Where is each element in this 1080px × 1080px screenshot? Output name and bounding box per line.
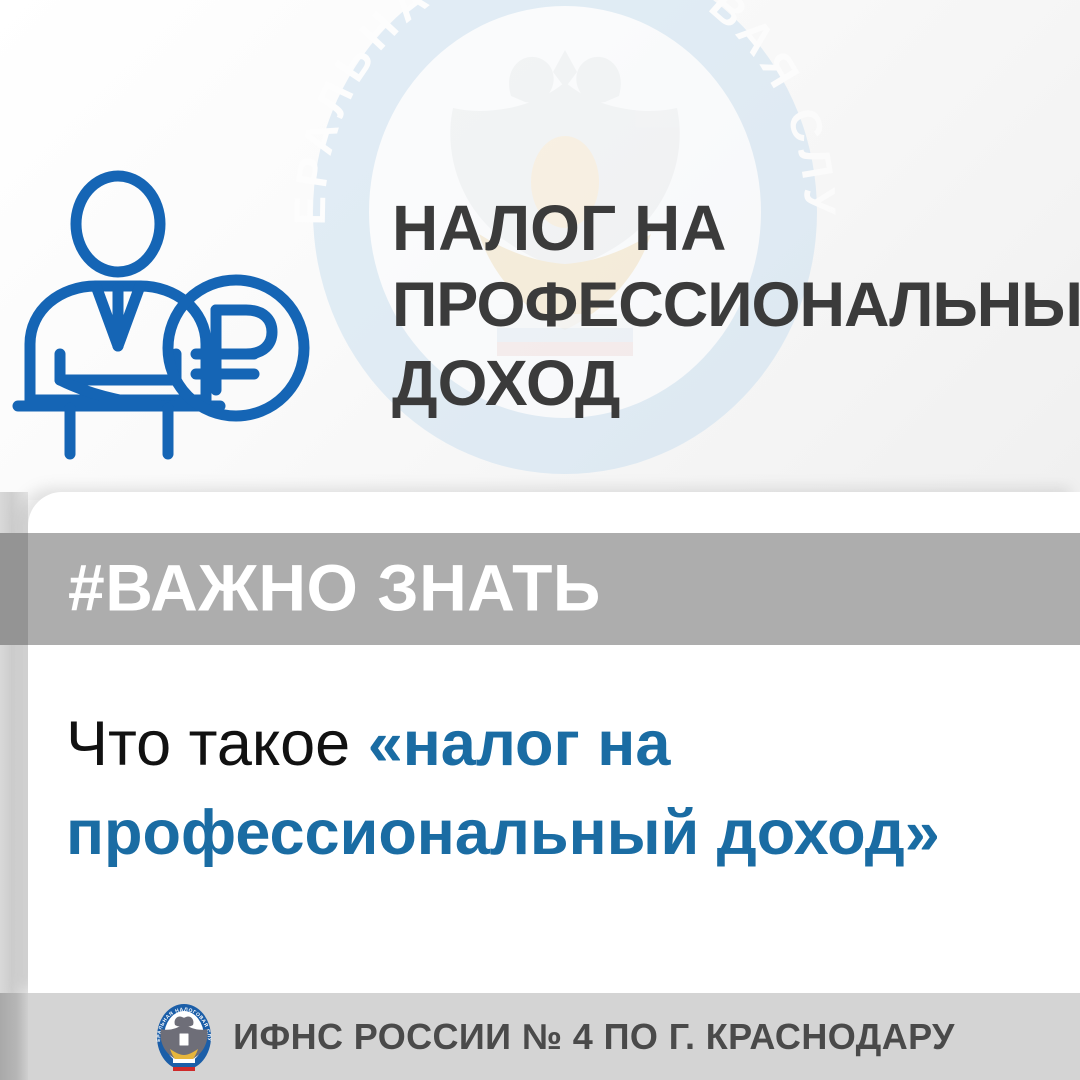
body-lead-text: Что такое — [66, 709, 368, 779]
footer-label: ИФНС РОССИИ № 4 ПО Г. КРАСНОДАРУ — [233, 1016, 955, 1058]
hero-title-line-3: ДОХОД — [392, 351, 1080, 415]
person-with-ruble-coin-icon — [8, 168, 318, 468]
hero-title: НАЛОГ НА ПРОФЕССИОНАЛЬНЫЙ ДОХОД — [392, 196, 1080, 429]
hashtag-label: #ВАЖНО ЗНАТЬ — [68, 555, 601, 621]
poster-root: ФЕДЕРАЛЬНАЯ НАЛОГОВАЯ СЛУЖБА — [0, 0, 1080, 1080]
hero-title-line-2: ПРОФЕССИОНАЛЬНЫЙ — [392, 274, 1080, 337]
hero-banner: ФЕДЕРАЛЬНАЯ НАЛОГОВАЯ СЛУЖБА — [0, 0, 1080, 500]
footer-bar: ФЕДЕРАЛЬНАЯ НАЛОГОВАЯ СЛУЖБА ИФНС РОССИИ… — [28, 993, 1080, 1080]
hashtag-band: #ВАЖНО ЗНАТЬ — [28, 533, 1080, 645]
band-left-shadow-gutter — [0, 533, 28, 645]
hero-title-line-1: НАЛОГ НА — [392, 196, 1080, 260]
footer-left-shadow-gutter — [0, 993, 28, 1080]
body-copy: Что такое «налог на профессиональный дох… — [66, 700, 996, 879]
fns-emblem-icon: ФЕДЕРАЛЬНАЯ НАЛОГОВАЯ СЛУЖБА — [153, 1001, 215, 1073]
